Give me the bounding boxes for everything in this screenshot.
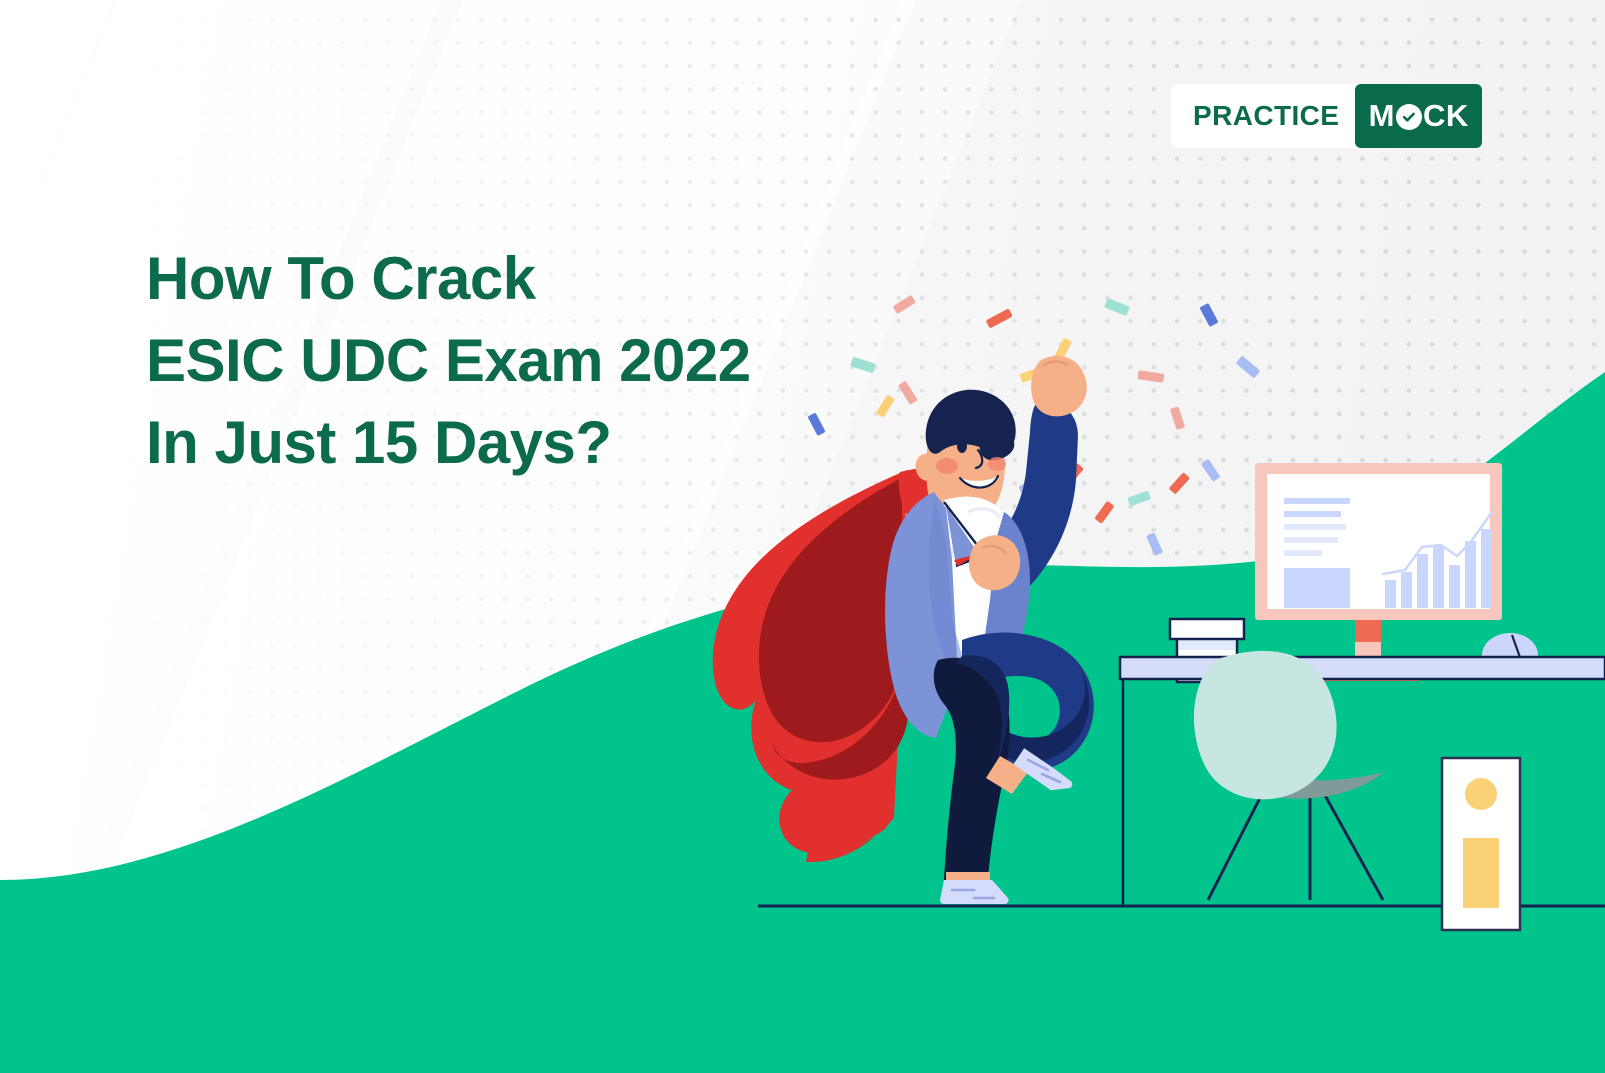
logo-mock-left-text: M — [1369, 98, 1395, 134]
page-title-line-2: ESIC UDC Exam 2022 — [146, 320, 751, 402]
illustration-superhero-desk — [0, 0, 1605, 1073]
page-title: How To Crack ESIC UDC Exam 2022 In Just … — [146, 238, 751, 484]
character-superhero — [713, 356, 1094, 904]
page-title-line-1: How To Crack — [146, 238, 751, 320]
brand-logo[interactable]: PRACTICE M CK — [1171, 84, 1482, 148]
chest-hand — [969, 535, 1020, 590]
raised-fist — [1031, 356, 1087, 416]
check-icon — [1396, 104, 1422, 130]
logo-practice-text: PRACTICE — [1171, 100, 1355, 132]
monitor — [1255, 463, 1502, 681]
banner-root: PRACTICE M CK How To Crack ESIC UDC Exam… — [0, 0, 1605, 1073]
chair — [1194, 651, 1384, 900]
logo-mock-badge: M CK — [1355, 84, 1482, 148]
info-panel — [1442, 758, 1520, 930]
logo-mock-right-text: CK — [1423, 98, 1469, 134]
page-title-line-3: In Just 15 Days? — [146, 402, 751, 484]
legs — [934, 633, 1094, 890]
